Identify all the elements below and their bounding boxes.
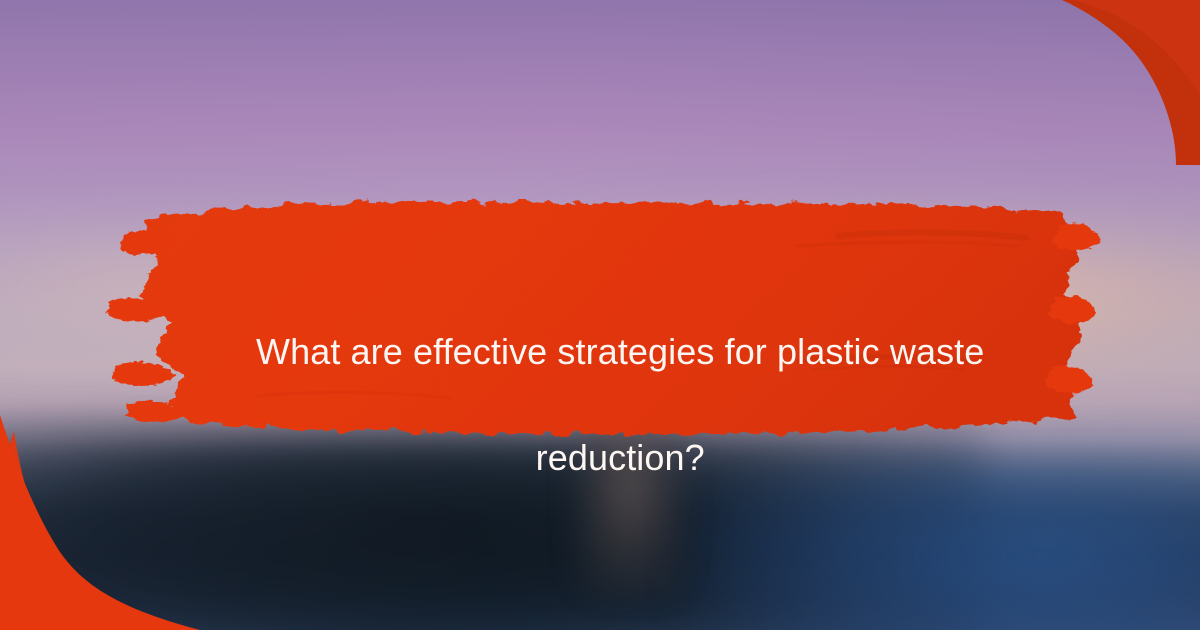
- headline-text: What are effective strategies for plasti…: [150, 272, 1050, 537]
- headline-line-1: What are effective strategies for plasti…: [256, 331, 984, 372]
- headline-line-2: reduction?: [536, 437, 705, 478]
- social-card: What are effective strategies for plasti…: [0, 0, 1200, 630]
